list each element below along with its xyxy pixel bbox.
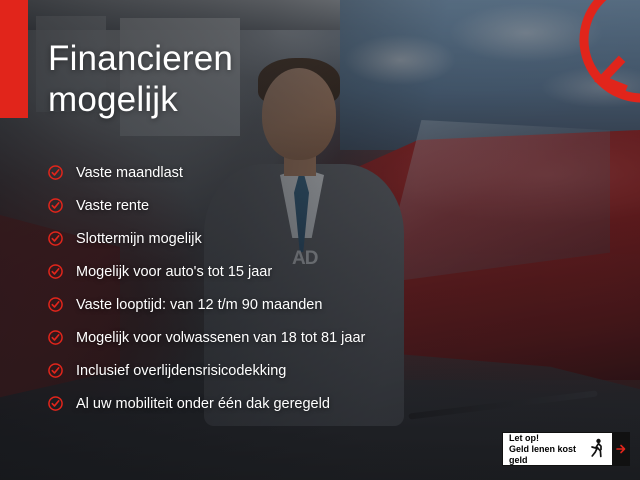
check-circle-icon [48, 330, 63, 345]
list-item-label: Vaste rente [76, 198, 149, 214]
headline-line-2: mogelijk [48, 79, 233, 120]
list-item: Mogelijk voor volwassenen van 18 tot 81 … [48, 321, 468, 354]
list-item-label: Mogelijk voor volwassenen van 18 tot 81 … [76, 330, 365, 346]
arrow-right-icon [612, 432, 629, 466]
list-item-label: Vaste looptijd: van 12 t/m 90 maanden [76, 297, 322, 313]
list-item-label: Slottermijn mogelijk [76, 231, 202, 247]
check-circle-icon [48, 231, 63, 246]
list-item: Al uw mobiliteit onder één dak geregeld [48, 387, 468, 420]
list-item-label: Inclusief overlijdensrisicodekking [76, 363, 286, 379]
check-circle-icon [48, 363, 63, 378]
check-circle-icon [48, 264, 63, 279]
warning-badge-line-1: Let op! [509, 433, 582, 444]
list-item-label: Mogelijk voor auto's tot 15 jaar [76, 264, 272, 280]
red-arc-icon [524, 0, 640, 126]
warning-badge-line-2: Geld lenen kost geld [509, 444, 582, 466]
list-item: Vaste looptijd: van 12 t/m 90 maanden [48, 288, 468, 321]
check-circle-icon [48, 165, 63, 180]
warning-badge-text: Let op! Geld lenen kost geld [503, 433, 582, 466]
list-item: Inclusief overlijdensrisicodekking [48, 354, 468, 387]
status-badge: Let op! Geld lenen kost geld [502, 432, 630, 466]
running-person-icon [582, 433, 612, 465]
list-item: Vaste rente [48, 189, 468, 222]
headline-line-1: Financieren [48, 38, 233, 79]
promo-banner: AD Financieren mogelijk Vaste maandlast … [0, 0, 640, 480]
check-circle-icon [48, 396, 63, 411]
feature-list: Vaste maandlast Vaste rente Slottermijn … [48, 156, 468, 420]
check-circle-icon [48, 297, 63, 312]
list-item: Slottermijn mogelijk [48, 222, 468, 255]
page-title: Financieren mogelijk [48, 38, 233, 120]
list-item: Vaste maandlast [48, 156, 468, 189]
red-corner-block [0, 0, 28, 118]
check-circle-icon [48, 198, 63, 213]
list-item-label: Al uw mobiliteit onder één dak geregeld [76, 396, 330, 412]
list-item: Mogelijk voor auto's tot 15 jaar [48, 255, 468, 288]
list-item-label: Vaste maandlast [76, 165, 183, 181]
